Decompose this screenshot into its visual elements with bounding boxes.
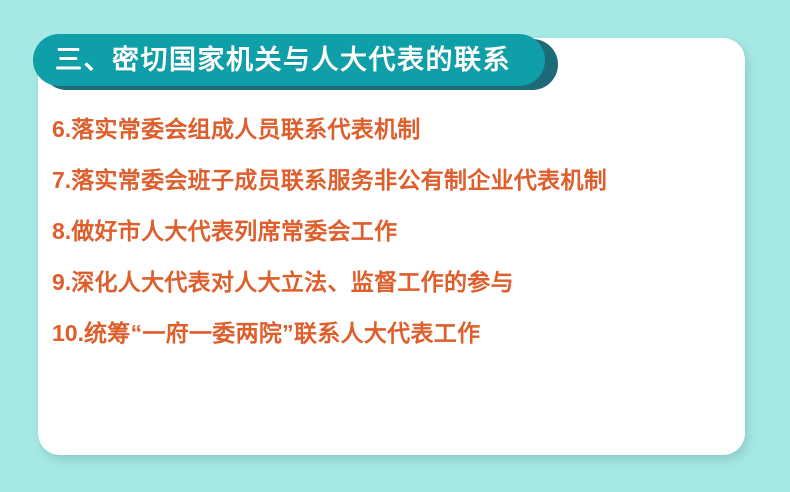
section-title: 三、密切国家机关与人大代表的联系: [33, 47, 511, 74]
section-header-badge: 三、密切国家机关与人大代表的联系: [33, 34, 558, 90]
list-item: 7.落实常委会班子成员联系服务非公有制企业代表机制: [52, 155, 712, 206]
list-item: 10.统筹“一府一委两院”联系人大代表工作: [52, 308, 712, 359]
numbered-list: 6.落实常委会组成人员联系代表机制 7.落实常委会班子成员联系服务非公有制企业代…: [52, 104, 712, 359]
list-item-number: 8.: [52, 218, 71, 244]
list-item: 6.落实常委会组成人员联系代表机制: [52, 104, 712, 155]
list-item-label: 做好市人大代表列席常委会工作: [71, 218, 397, 244]
list-item-number: 7.: [52, 167, 71, 193]
badge-pill: 三、密切国家机关与人大代表的联系: [33, 34, 545, 86]
slide-root: 三、密切国家机关与人大代表的联系 6.落实常委会组成人员联系代表机制 7.落实常…: [0, 0, 790, 492]
list-item-label: 落实常委会班子成员联系服务非公有制企业代表机制: [71, 167, 607, 193]
list-item-number: 9.: [52, 269, 71, 295]
list-item-number: 10.: [52, 320, 84, 346]
list-item-label: 落实常委会组成人员联系代表机制: [71, 116, 421, 142]
list-item: 9.深化人大代表对人大立法、监督工作的参与: [52, 257, 712, 308]
list-item-label: 统筹“一府一委两院”联系人大代表工作: [84, 320, 480, 346]
list-item-number: 6.: [52, 116, 71, 142]
list-item: 8.做好市人大代表列席常委会工作: [52, 206, 712, 257]
list-item-label: 深化人大代表对人大立法、监督工作的参与: [71, 269, 514, 295]
